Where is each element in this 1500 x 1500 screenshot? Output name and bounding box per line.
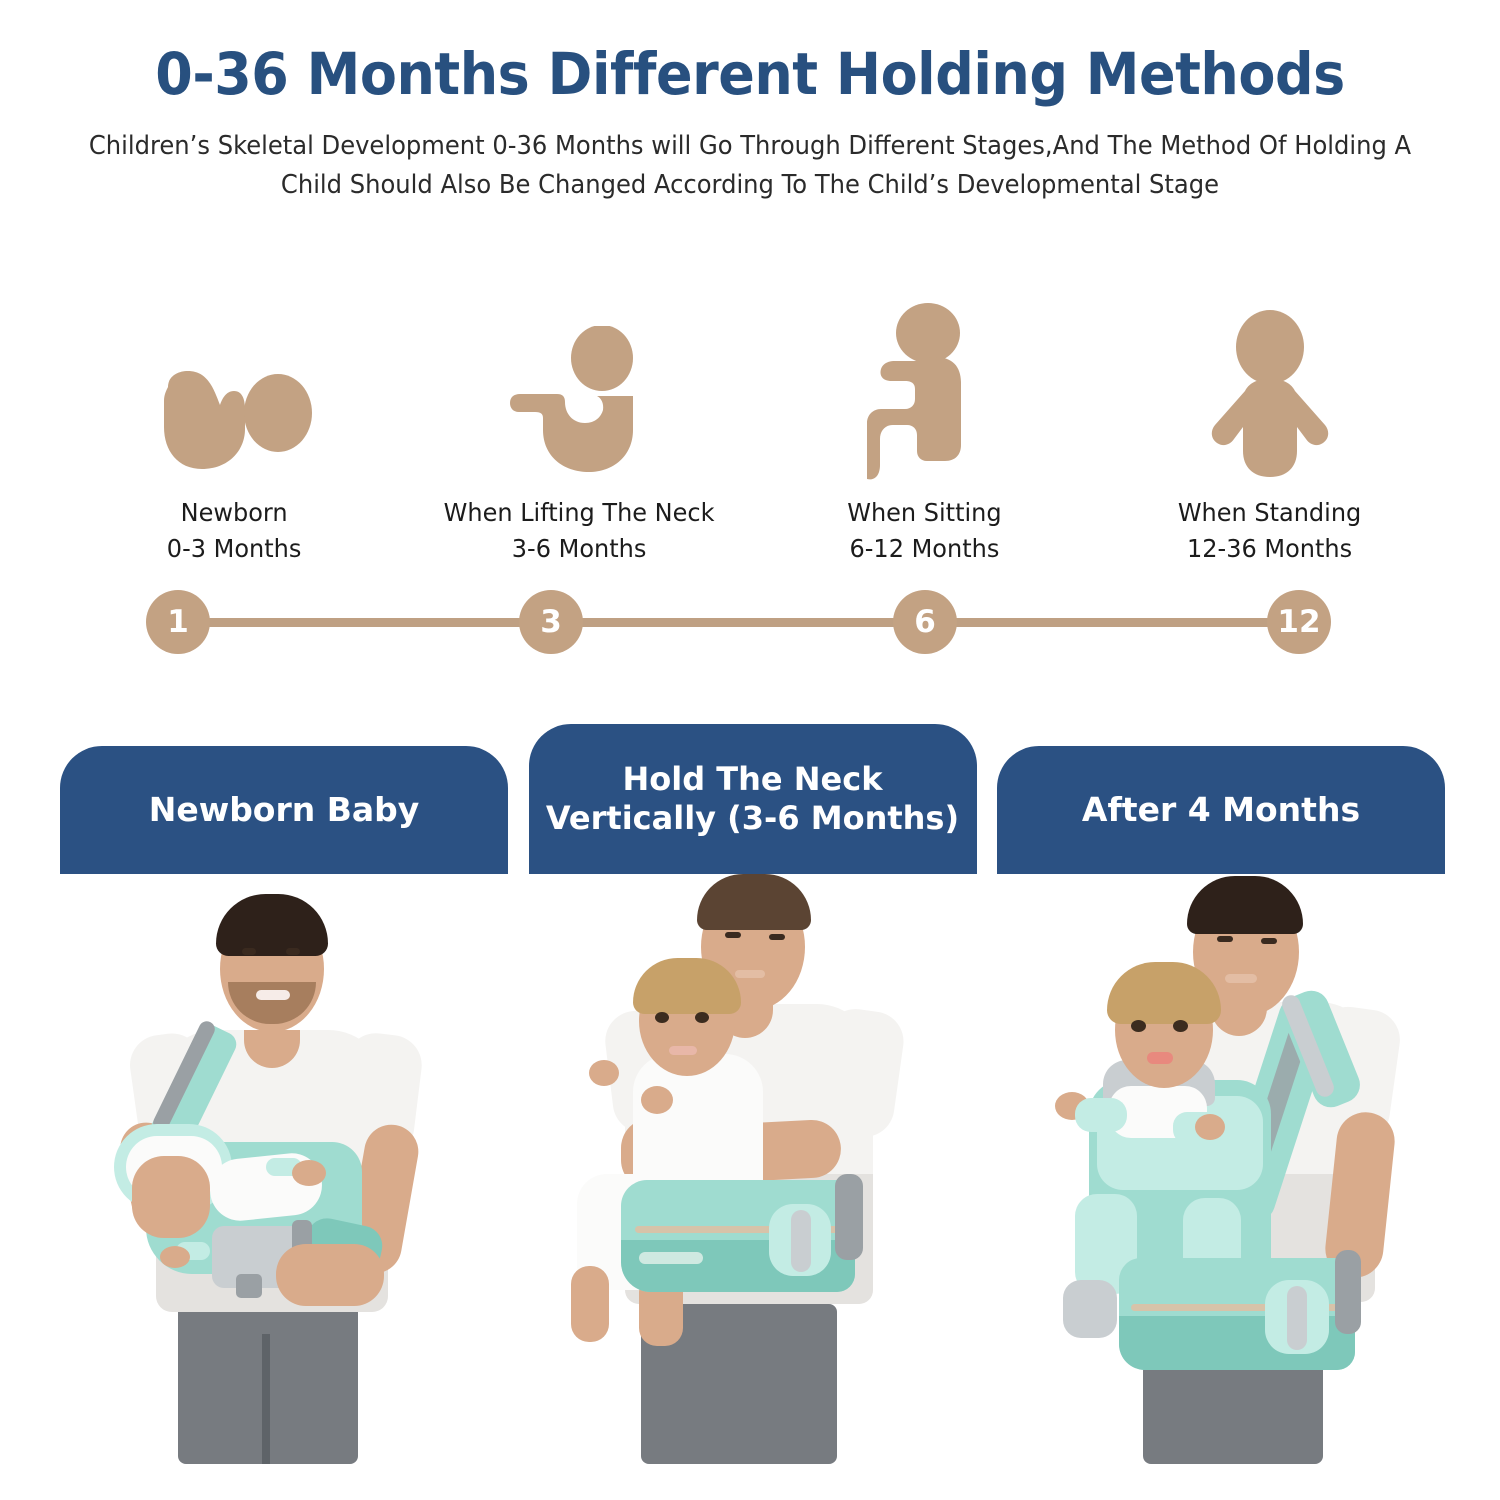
stage-standing: When Standing 12-36 Months bbox=[1097, 296, 1442, 566]
stage-label-line-1: When Lifting The Neck bbox=[444, 498, 715, 527]
stage-label-line-1: Newborn bbox=[181, 498, 288, 527]
stage-label: When Lifting The Neck 3-6 Months bbox=[444, 495, 715, 566]
stage-label: When Standing 12-36 Months bbox=[1178, 495, 1361, 566]
holding-method-panels: Newborn Baby bbox=[60, 746, 1445, 1464]
stage-label: When Sitting 6-12 Months bbox=[847, 495, 1001, 566]
stage-label: Newborn 0-3 Months bbox=[167, 495, 302, 566]
panel-after-4-months: After 4 Months bbox=[997, 746, 1445, 1464]
panel-banner-line-1: After 4 Months bbox=[1082, 790, 1360, 830]
stage-newborn: Newborn 0-3 Months bbox=[62, 296, 407, 566]
stage-label-line-2: 3-6 Months bbox=[444, 531, 715, 567]
development-stages-row: Newborn 0-3 Months When Lifting The Neck… bbox=[62, 296, 1442, 566]
panel-newborn-baby: Newborn Baby bbox=[60, 746, 508, 1464]
stage-label-line-1: When Sitting bbox=[847, 498, 1001, 527]
stage-label-line-2: 6-12 Months bbox=[847, 531, 1001, 567]
dad-holding-baby-on-hip-seat-photo bbox=[529, 874, 977, 1464]
dad-wearing-baby-in-front-carrier-photo bbox=[997, 874, 1445, 1464]
header: 0-36 Months Different Holding Methods Ch… bbox=[0, 44, 1500, 206]
subtitle-line-2: Child Should Also Be Changed According T… bbox=[85, 166, 1415, 206]
stage-label-line-2: 0-3 Months bbox=[167, 531, 302, 567]
age-timeline: 1 3 6 12 bbox=[146, 590, 1331, 656]
baby-lying-newborn-icon bbox=[150, 296, 320, 481]
stage-label-line-2: 12-36 Months bbox=[1178, 531, 1361, 567]
baby-sitting-icon bbox=[865, 296, 985, 481]
page-subtitle: Children’s Skeletal Development 0-36 Mon… bbox=[85, 127, 1415, 206]
page-title: 0-36 Months Different Holding Methods bbox=[53, 44, 1448, 105]
stage-lifting-neck: When Lifting The Neck 3-6 Months bbox=[407, 296, 752, 566]
panel-banner: After 4 Months bbox=[997, 746, 1445, 874]
timeline-node-1[interactable]: 1 bbox=[146, 590, 210, 654]
panel-banner: Hold The Neck Vertically (3-6 Months) bbox=[529, 724, 977, 874]
panel-banner-line-1: Newborn Baby bbox=[149, 790, 420, 830]
stage-label-line-1: When Standing bbox=[1178, 498, 1361, 527]
timeline-track bbox=[182, 618, 1295, 627]
panel-banner-line-1: Hold The Neck bbox=[623, 760, 883, 798]
dad-cradling-newborn-in-carrier-photo bbox=[60, 874, 508, 1464]
subtitle-line-1: Children’s Skeletal Development 0-36 Mon… bbox=[85, 127, 1415, 167]
baby-lifting-neck-icon bbox=[505, 296, 655, 481]
baby-standing-icon bbox=[1205, 296, 1335, 481]
timeline-node-12[interactable]: 12 bbox=[1267, 590, 1331, 654]
timeline-node-6[interactable]: 6 bbox=[893, 590, 957, 654]
stage-sitting: When Sitting 6-12 Months bbox=[752, 296, 1097, 566]
timeline-node-3[interactable]: 3 bbox=[519, 590, 583, 654]
panel-banner: Newborn Baby bbox=[60, 746, 508, 874]
panel-banner-line-2: Vertically (3-6 Months) bbox=[546, 799, 959, 838]
panel-hold-the-neck-vertically: Hold The Neck Vertically (3-6 Months) bbox=[529, 746, 977, 1464]
